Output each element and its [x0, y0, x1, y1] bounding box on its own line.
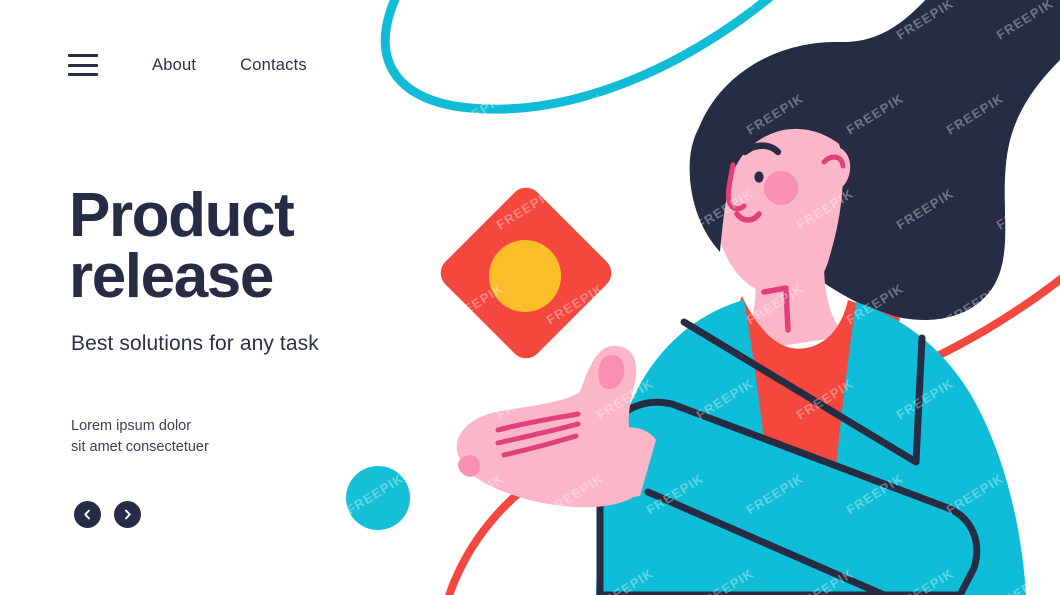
hero-copy: Product release Best solutions for any t…: [69, 186, 469, 356]
hamburger-bar: [68, 73, 98, 76]
teal-circle: [346, 466, 410, 530]
hamburger-bar: [68, 64, 98, 67]
chevron-left-icon: [82, 509, 93, 520]
hamburger-menu-icon[interactable]: [68, 54, 98, 76]
main-navigation: About Contacts: [68, 54, 307, 76]
slider-navigation: [74, 501, 141, 528]
nav-links: About Contacts: [152, 56, 307, 75]
hero-body-text: Lorem ipsum dolor sit amet consectetuer: [71, 416, 209, 457]
eye-right: [754, 171, 763, 182]
blush: [764, 171, 798, 205]
page-title: Product release: [69, 186, 469, 308]
page-subtitle: Best solutions for any task: [71, 332, 469, 356]
landing-page-root: About Contacts Product release Best solu…: [0, 0, 1060, 595]
nav-link-contacts[interactable]: Contacts: [240, 56, 307, 75]
next-slide-button[interactable]: [114, 501, 141, 528]
yellow-circle: [489, 240, 561, 312]
chevron-right-icon: [122, 509, 133, 520]
eye-left: [716, 179, 725, 190]
nav-link-about[interactable]: About: [152, 56, 196, 75]
prev-slide-button[interactable]: [74, 501, 101, 528]
hamburger-bar: [68, 54, 98, 57]
